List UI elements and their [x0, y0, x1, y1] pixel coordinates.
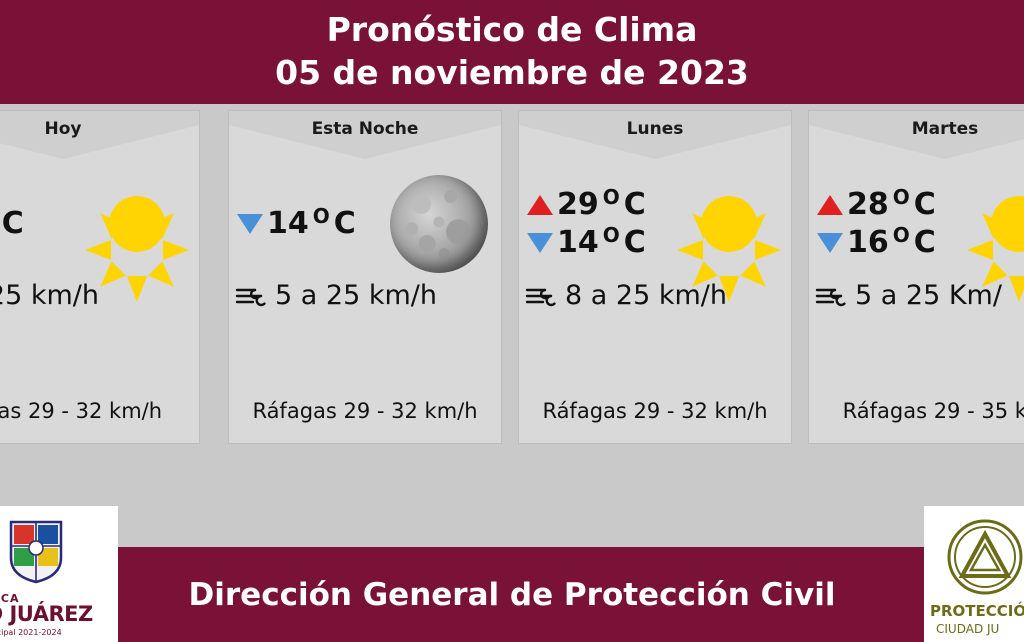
poster-title: Pronóstico de Clima [327, 9, 698, 51]
sun-icon [85, 172, 189, 276]
temperature-value: 14 [267, 205, 309, 243]
wind-gusts-text: Ráfagas 29 - 32 km/h [519, 399, 791, 423]
temperature-list: 14 O C [229, 205, 377, 243]
sun-icon [967, 172, 1024, 276]
degree-symbol: O [893, 178, 910, 216]
weather-icon-wrap [75, 172, 199, 276]
card-temperature-row: 29 O C 14 O C [519, 169, 791, 279]
wind-speed-text: 5 a 25 Km/ [855, 280, 1002, 311]
arrow-up-icon [817, 195, 843, 215]
degree-symbol: O [603, 216, 620, 254]
arrow-down-icon [237, 214, 263, 234]
temperature-list: 29 O C 14 O C [519, 186, 667, 262]
wind-speed-text: 8 a 25 km/h [565, 280, 727, 311]
card-title: Lunes [519, 119, 791, 139]
logo-left-line3: o Municipal 2021-2024 [0, 628, 118, 637]
degree-symbol: O [313, 197, 330, 235]
footer-title: Dirección General de Protección Civil [189, 577, 836, 613]
sun-icon [677, 172, 781, 276]
card-wind-row: 5 a 25 km/h [0, 271, 199, 319]
temperature-low: 16 O C [817, 224, 957, 262]
temperature-value: 28 [847, 186, 889, 224]
poster-header: Pronóstico de Clima 05 de noviembre de 2… [0, 0, 1024, 104]
forecast-card[interactable]: Martes 28 O C 16 O C [808, 110, 1024, 444]
wind-speed-text: 5 a 25 km/h [0, 280, 99, 311]
temperature-scale: C [2, 205, 24, 243]
poster-date: 05 de noviembre de 2023 [275, 51, 749, 95]
temperature-value: 16 [847, 224, 889, 262]
proteccion-civil-logo: PROTECCIÓN CIUDAD JU [924, 506, 1024, 642]
temperature-scale: C [914, 186, 936, 224]
wind-gusts-text: Ráfagas 29 - 32 km/h [229, 399, 501, 423]
wind-icon [525, 282, 561, 308]
temperature-scale: C [624, 224, 646, 262]
poster-footer: Dirección General de Protección Civil [0, 547, 1024, 642]
temperature-list: 28 O C 16 O C [809, 186, 957, 262]
degree-symbol: O [603, 178, 620, 216]
degree-symbol: O [893, 216, 910, 254]
card-temperature-row: 14 O C [229, 169, 501, 279]
card-title: Martes [809, 119, 1024, 139]
moon-icon [390, 175, 488, 273]
weather-icon-wrap [377, 175, 501, 273]
temperature-scale: C [624, 186, 646, 224]
weather-icon-wrap [667, 172, 791, 276]
temperature-scale: C [334, 205, 356, 243]
card-title: Hoy [0, 119, 199, 139]
logo-right-line1: PROTECCIÓN [930, 602, 1024, 620]
wind-icon [815, 282, 851, 308]
card-temperature-row: 28 O C [0, 169, 199, 279]
logo-left-line2: AD JUÁREZ [0, 602, 118, 626]
temperature-value: 14 [557, 224, 599, 262]
temperature-high: 29 O C [527, 186, 667, 224]
temperature-high: 28 O C [817, 186, 957, 224]
wind-gusts-text: Ráfagas 29 - 35 km [809, 399, 1024, 423]
arrow-up-icon [527, 195, 553, 215]
temperature-scale: C [914, 224, 936, 262]
temperature-list: 28 O C [0, 205, 75, 243]
arrow-down-icon [817, 233, 843, 253]
wind-icon [235, 282, 271, 308]
heroica-ciudad-juarez-logo: ROICA AD JUÁREZ o Municipal 2021-2024 [0, 506, 118, 642]
forecast-card[interactable]: Esta Noche 14 O C 5 a 25 [228, 110, 502, 444]
city-shield-icon [8, 518, 64, 584]
card-temperature-row: 28 O C 16 O C [809, 169, 1024, 279]
card-wind-row: 8 a 25 km/h [519, 271, 791, 319]
card-wind-row: 5 a 25 km/h [229, 271, 501, 319]
temperature-low: 14 O C [527, 224, 667, 262]
card-title: Esta Noche [229, 119, 501, 139]
civil-protection-triangle-icon [946, 518, 1024, 596]
weather-forecast-poster: Pronóstico de Clima 05 de noviembre de 2… [0, 0, 1024, 642]
weather-icon-wrap [957, 172, 1024, 276]
temperature-low: 14 O C [237, 205, 377, 243]
card-wind-row: 5 a 25 Km/ [809, 271, 1024, 319]
forecast-card[interactable]: Lunes 29 O C 14 O C [518, 110, 792, 444]
wind-gusts-text: fagas 29 - 32 km/h [0, 399, 199, 423]
temperature-value: 29 [557, 186, 599, 224]
forecast-card[interactable]: Hoy 28 O C [0, 110, 200, 444]
wind-speed-text: 5 a 25 km/h [275, 280, 437, 311]
logo-right-line2: CIUDAD JU [936, 622, 999, 636]
forecast-card-row: Hoy 28 O C [0, 104, 1024, 444]
temperature-high: 28 O C [0, 205, 75, 243]
arrow-down-icon [527, 233, 553, 253]
